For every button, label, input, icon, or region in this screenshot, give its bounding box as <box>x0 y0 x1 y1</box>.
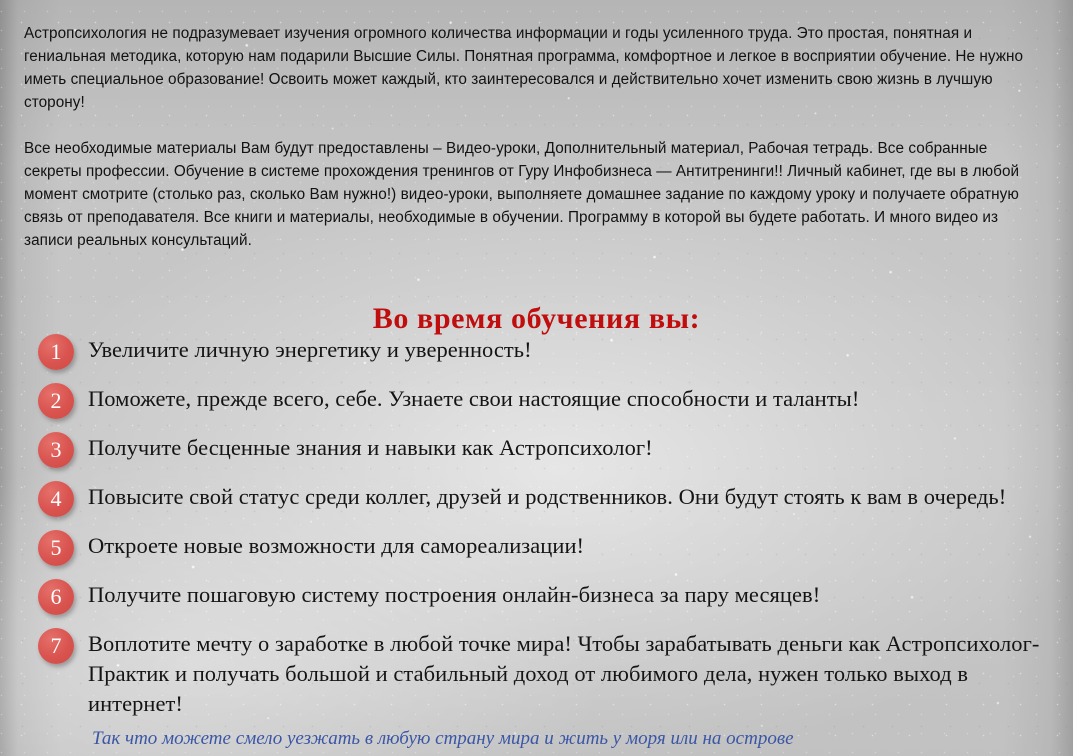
number-badge-3: 3 <box>38 432 74 468</box>
list-item: 2 Поможете, прежде всего, себе. Узнаете … <box>38 383 1053 419</box>
closing-note: Так что можете смело уезжать в любую стр… <box>92 726 1032 752</box>
page-canvas: Астропсихология не подразумевает изучени… <box>0 0 1073 756</box>
number-badge-4: 4 <box>38 481 74 517</box>
benefit-text-7: Воплотите мечту о заработке в любой точк… <box>88 628 1053 719</box>
benefit-text-4: Повысите свой статус среди коллег, друзе… <box>88 481 1053 512</box>
benefit-text-3: Получите бесценные знания и навыки как А… <box>88 432 1053 463</box>
number-badge-7: 7 <box>38 628 74 664</box>
list-item: 7 Воплотите мечту о заработке в любой то… <box>38 628 1053 719</box>
number-badge-5: 5 <box>38 530 74 566</box>
intro-section: Астропсихология не подразумевает изучени… <box>24 22 1026 252</box>
number-badge-1: 1 <box>38 334 74 370</box>
list-item: 3 Получите бесценные знания и навыки как… <box>38 432 1053 468</box>
intro-paragraph-2: Все необходимые материалы Вам будут пред… <box>24 137 1026 252</box>
benefits-list: 1 Увеличите личную энергетику и уверенно… <box>38 334 1053 725</box>
list-item: 4 Повысите свой статус среди коллег, дру… <box>38 481 1053 517</box>
number-badge-2: 2 <box>38 383 74 419</box>
list-item: 5 Откроете новые возможности для самореа… <box>38 530 1053 566</box>
benefit-text-1: Увеличите личную энергетику и уверенност… <box>88 334 1053 365</box>
benefit-text-6: Получите пошаговую систему построения он… <box>88 579 1053 610</box>
list-item: 6 Получите пошаговую систему построения … <box>38 579 1053 615</box>
number-badge-6: 6 <box>38 579 74 615</box>
benefit-text-5: Откроете новые возможности для самореали… <box>88 530 1053 561</box>
intro-paragraph-1: Астропсихология не подразумевает изучени… <box>24 22 1026 114</box>
list-item: 1 Увеличите личную энергетику и уверенно… <box>38 334 1053 370</box>
benefit-text-2: Поможете, прежде всего, себе. Узнаете св… <box>88 383 1053 414</box>
page-title: Во время обучения вы: <box>0 301 1073 337</box>
